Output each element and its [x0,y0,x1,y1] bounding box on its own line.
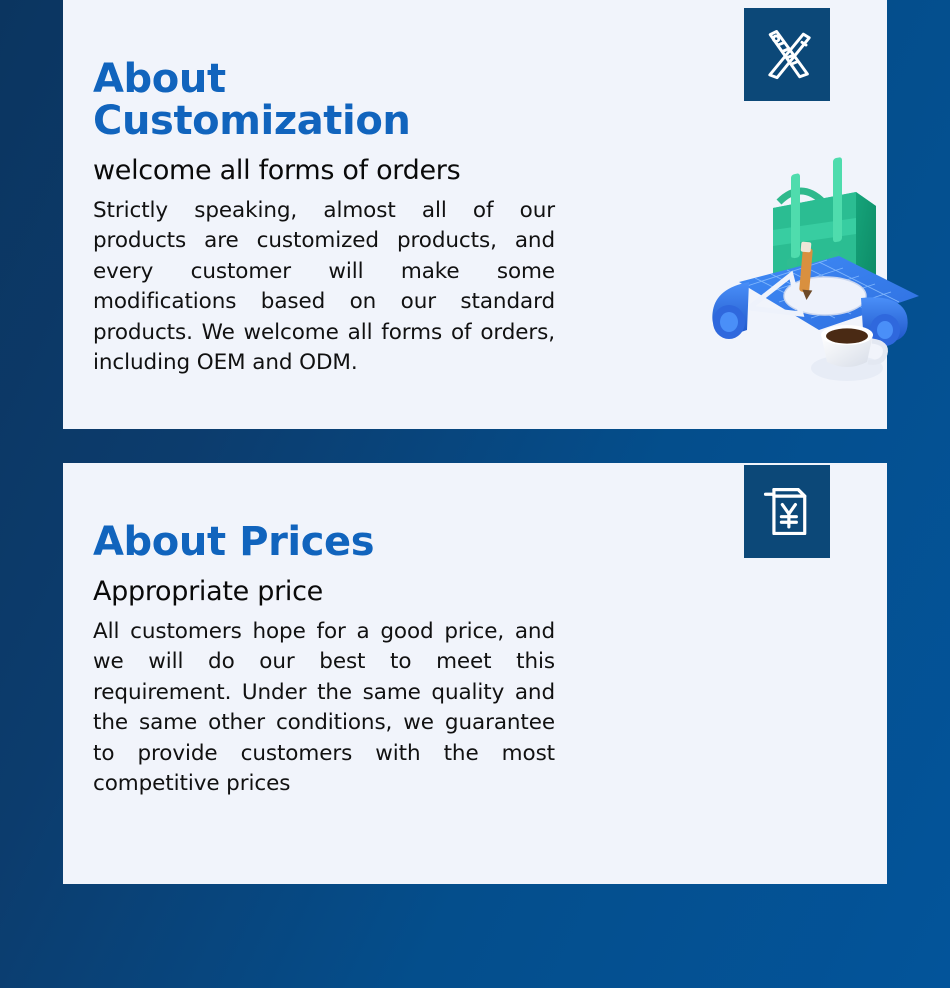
card-body-prices: All customers hope for a good price, and… [93,617,555,800]
prices-text-column: About Prices Appropriate price All custo… [93,521,555,800]
card-about-customization: About Customization welcome all forms of… [63,0,887,429]
customization-text-column: About Customization welcome all forms of… [93,58,555,379]
invoice-yen-icon [744,465,830,558]
card-body-customization: Strictly speaking, almost all of our pro… [93,196,555,379]
blueprint-briefcase-illustration [651,130,950,385]
page-title-customization: About Customization [93,58,555,142]
card-subtitle-customization: welcome all forms of orders [93,156,555,186]
page-title-prices: About Prices [93,521,555,563]
ruler-pencil-icon [744,8,830,101]
page-root: About Customization welcome all forms of… [0,0,950,988]
card-subtitle-prices: Appropriate price [93,577,555,607]
card-about-prices: About Prices Appropriate price All custo… [63,463,887,884]
